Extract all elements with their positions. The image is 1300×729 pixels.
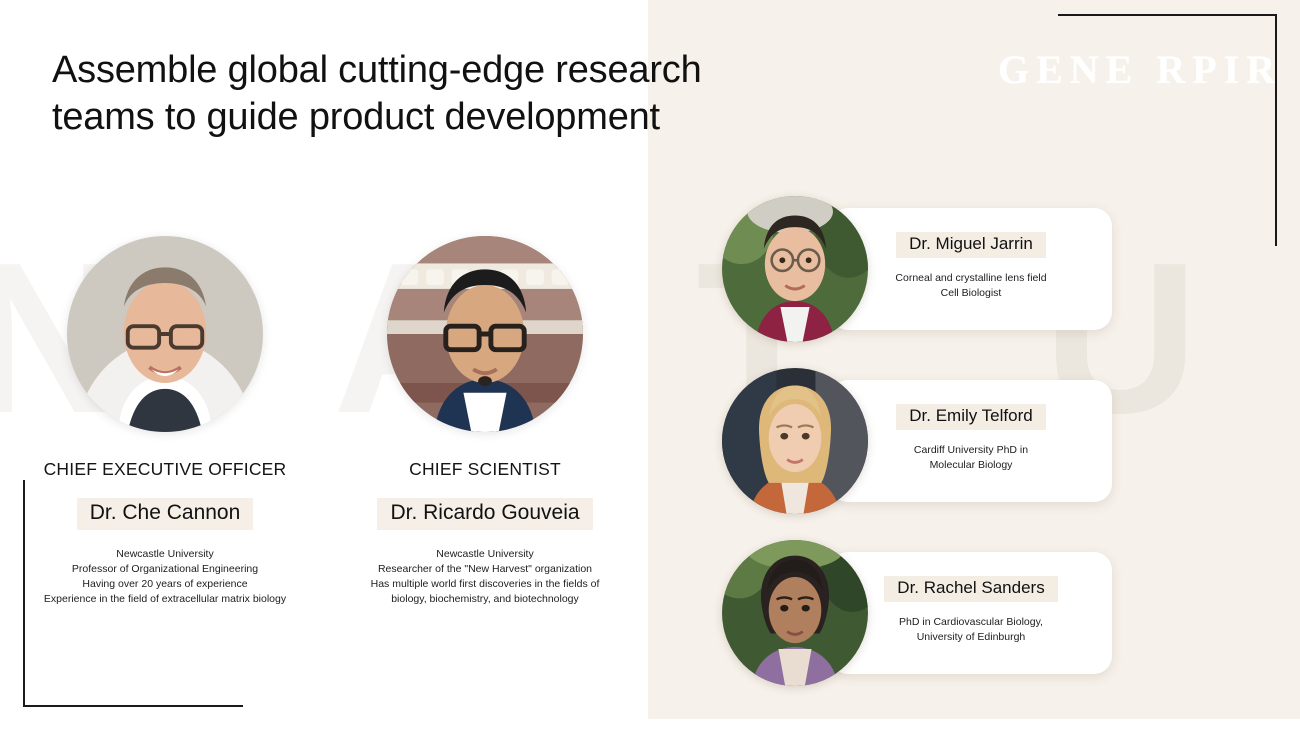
- avatar-emily-telford: [722, 368, 868, 514]
- member-card-body: Dr. Rachel Sanders PhD in Cardiovascular…: [830, 552, 1112, 674]
- member-description: Cardiff University PhD in Molecular Biol…: [830, 443, 1112, 473]
- slide-title: Assemble global cutting-edge research te…: [52, 47, 812, 141]
- slide-canvas: N A T U R S GENE RPIR Assemble global cu…: [0, 0, 1300, 729]
- member-card-rachel-sanders: Dr. Rachel Sanders PhD in Cardiovascular…: [722, 540, 1112, 686]
- member-description: PhD in Cardiovascular Biology, Universit…: [830, 615, 1112, 645]
- leader-name-chip: Dr. Ricardo Gouveia: [377, 498, 592, 530]
- leader-role: CHIEF EXECUTIVE OFFICER: [0, 459, 330, 480]
- member-card-miguel-jarrin: Dr. Miguel Jarrin Corneal and crystallin…: [722, 196, 1112, 342]
- decorative-line-top-right-vertical: [1275, 14, 1277, 246]
- decorative-line-bottom-left-horizontal: [23, 705, 243, 707]
- leader-bio: Newcastle University Professor of Organi…: [0, 547, 330, 607]
- decorative-line-top-right-horizontal: [1058, 14, 1277, 16]
- leader-name-chip: Dr. Che Cannon: [77, 498, 254, 530]
- leader-role: CHIEF SCIENTIST: [315, 459, 655, 480]
- leader-block-ceo: CHIEF EXECUTIVE OFFICER Dr. Che Cannon N…: [0, 236, 330, 607]
- member-card-body: Dr. Miguel Jarrin Corneal and crystallin…: [830, 208, 1112, 330]
- leader-bio: Newcastle University Researcher of the "…: [315, 547, 655, 607]
- member-name-chip: Dr. Emily Telford: [896, 404, 1045, 430]
- member-name-chip: Dr. Rachel Sanders: [884, 576, 1057, 602]
- member-card-body: Dr. Emily Telford Cardiff University PhD…: [830, 380, 1112, 502]
- avatar-miguel-jarrin: [722, 196, 868, 342]
- portrait-che-cannon: [67, 236, 263, 432]
- member-description: Corneal and crystalline lens field Cell …: [830, 271, 1112, 301]
- member-card-emily-telford: Dr. Emily Telford Cardiff University PhD…: [722, 368, 1112, 514]
- portrait-ricardo-gouveia: [387, 236, 583, 432]
- member-name-chip: Dr. Miguel Jarrin: [896, 232, 1046, 258]
- avatar-rachel-sanders: [722, 540, 868, 686]
- leader-block-chief-scientist: CHIEF SCIENTIST Dr. Ricardo Gouveia Newc…: [315, 236, 655, 607]
